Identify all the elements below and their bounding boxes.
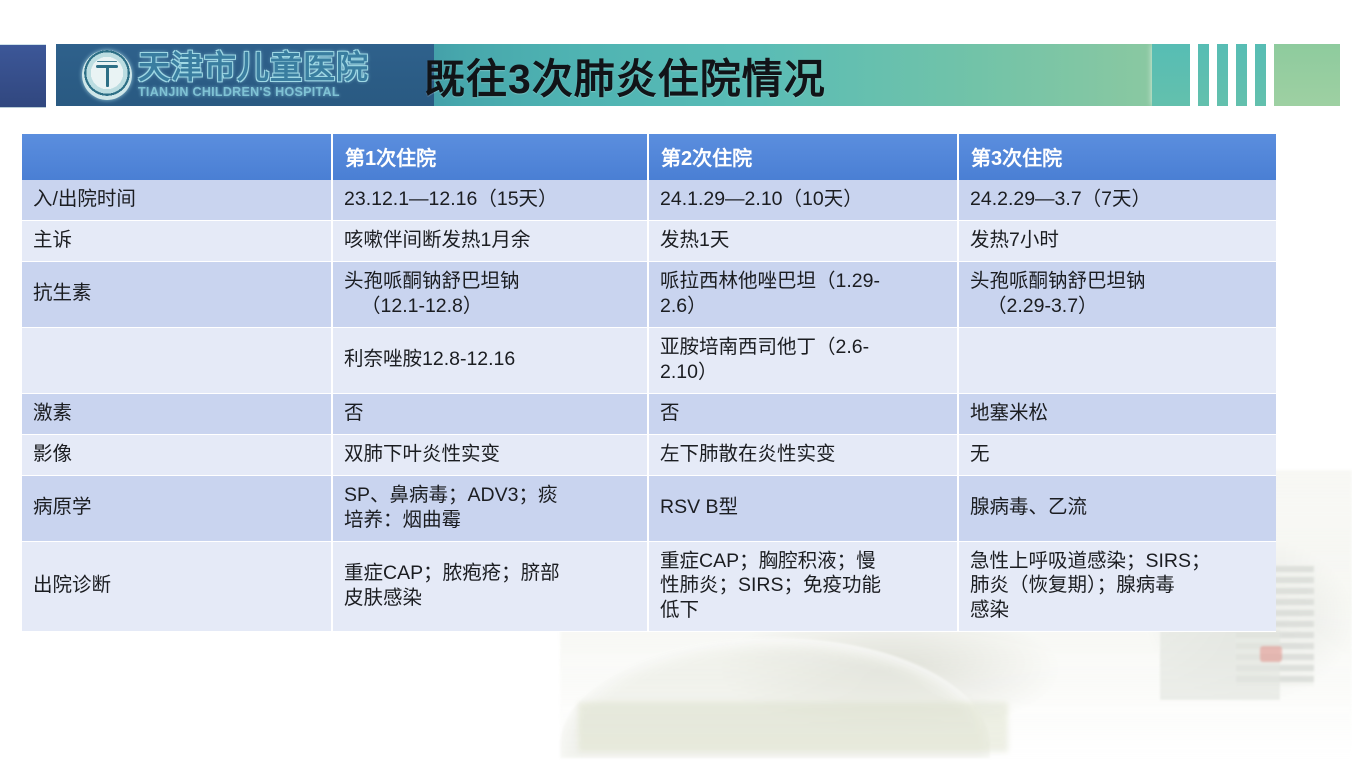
- hospital-logo: 天津市儿童医院 TIANJIN CHILDREN'S HOSPITAL: [56, 44, 434, 106]
- cell-line: 左下肺散在炎性实变: [660, 442, 946, 467]
- cell-line: 地塞米松: [970, 401, 1265, 426]
- cell-line: 培养：烟曲霉: [344, 508, 636, 533]
- cell-line: 哌拉西林他唑巴坦（1.29-: [660, 269, 946, 294]
- table-cell: SP、鼻病毒；ADV3；痰培养：烟曲霉: [332, 475, 648, 541]
- decor-bar-4: [1236, 44, 1247, 106]
- table-cell: 利奈唑胺12.8-12.16: [332, 327, 648, 393]
- header-decorative-bars: [1152, 44, 1352, 106]
- cell-line: 低下: [660, 598, 946, 623]
- table-cell: 发热7小时: [958, 220, 1276, 261]
- table-cell: 亚胺培南西司他丁（2.6-2.10）: [648, 327, 958, 393]
- cell-line: SP、鼻病毒；ADV3；痰: [344, 483, 636, 508]
- cell-line: 无: [970, 442, 1265, 467]
- table-cell: 无: [958, 434, 1276, 475]
- hospital-name-en: TIANJIN CHILDREN'S HOSPITAL: [138, 86, 369, 99]
- background-building-right: [1160, 630, 1280, 700]
- row-label: 出院诊断: [22, 541, 332, 632]
- decor-bar-1: [1152, 44, 1190, 106]
- table-cell: 头孢哌酮钠舒巴坦钠（2.29-3.7）: [958, 261, 1276, 327]
- hospital-seal-icon: [82, 50, 132, 100]
- cell-line: 腺病毒、乙流: [970, 495, 1265, 520]
- column-header-metric: [22, 134, 332, 180]
- row-label: 激素: [22, 393, 332, 434]
- decor-bar-5: [1255, 44, 1266, 106]
- table-cell: 重症CAP；胸腔积液；慢性肺炎；SIRS；免疫功能低下: [648, 541, 958, 632]
- cell-line: 肺炎（恢复期）；腺病毒: [970, 573, 1265, 598]
- table-cell: 哌拉西林他唑巴坦（1.29-2.6）: [648, 261, 958, 327]
- table-row: 出院诊断重症CAP；脓疱疮；脐部皮肤感染重症CAP；胸腔积液；慢性肺炎；SIRS…: [22, 541, 1276, 632]
- cell-line: 24.2.29—3.7（7天）: [970, 187, 1265, 212]
- table-cell: 头孢哌酮钠舒巴坦钠（12.1-12.8）: [332, 261, 648, 327]
- row-label: [22, 327, 332, 393]
- cell-line: 否: [344, 401, 636, 426]
- hospital-logo-text: 天津市儿童医院 TIANJIN CHILDREN'S HOSPITAL: [138, 51, 369, 99]
- row-label: 入/出院时间: [22, 180, 332, 220]
- table-cell: 咳嗽伴间断发热1月余: [332, 220, 648, 261]
- cell-line: 发热7小时: [970, 228, 1265, 253]
- table-row: 病原学SP、鼻病毒；ADV3；痰培养：烟曲霉RSV B型腺病毒、乙流: [22, 475, 1276, 541]
- cell-line: RSV B型: [660, 495, 946, 520]
- table-cell: 地塞米松: [958, 393, 1276, 434]
- cell-line: 发热1天: [660, 228, 946, 253]
- table-row: 入/出院时间23.12.1—12.16（15天）24.1.29—2.10（10天…: [22, 180, 1276, 220]
- table-header-row: 第1次住院 第2次住院 第3次住院: [22, 134, 1276, 180]
- table-cell: 发热1天: [648, 220, 958, 261]
- column-header-admission-1: 第1次住院: [332, 134, 648, 180]
- table-header: 第1次住院 第2次住院 第3次住院: [22, 134, 1276, 180]
- cell-line: 否: [660, 401, 946, 426]
- hospitalization-table-wrapper: 第1次住院 第2次住院 第3次住院 入/出院时间23.12.1—12.16（15…: [22, 134, 1276, 632]
- cell-line: （2.29-3.7）: [970, 294, 1265, 319]
- hospital-name-cn: 天津市儿童医院: [138, 51, 369, 83]
- table-cell: 急性上呼吸道感染；SIRS；肺炎（恢复期）；腺病毒感染: [958, 541, 1276, 632]
- background-accent: [1260, 646, 1282, 662]
- cell-line: 头孢哌酮钠舒巴坦钠: [344, 269, 636, 294]
- decor-bar-6: [1274, 44, 1340, 106]
- cell-line: 双肺下叶炎性实变: [344, 442, 636, 467]
- cell-line: 23.12.1—12.16（15天）: [344, 187, 636, 212]
- cell-line: 2.6）: [660, 294, 946, 319]
- hospitalization-table: 第1次住院 第2次住院 第3次住院 入/出院时间23.12.1—12.16（15…: [22, 134, 1276, 632]
- page-title: 既往3次肺炎住院情况: [424, 44, 826, 106]
- table-cell: 23.12.1—12.16（15天）: [332, 180, 648, 220]
- table-cell: 左下肺散在炎性实变: [648, 434, 958, 475]
- table-body: 入/出院时间23.12.1—12.16（15天）24.1.29—2.10（10天…: [22, 180, 1276, 632]
- decor-bar-2: [1198, 44, 1209, 106]
- cell-line: 利奈唑胺12.8-12.16: [344, 347, 636, 372]
- table-cell: 双肺下叶炎性实变: [332, 434, 648, 475]
- table-row: 抗生素头孢哌酮钠舒巴坦钠（12.1-12.8）哌拉西林他唑巴坦（1.29-2.6…: [22, 261, 1276, 327]
- table-row: 影像双肺下叶炎性实变左下肺散在炎性实变无: [22, 434, 1276, 475]
- decor-bar-3: [1217, 44, 1228, 106]
- cell-line: 2.10）: [660, 360, 946, 385]
- cell-line: 感染: [970, 598, 1265, 623]
- table-cell: [958, 327, 1276, 393]
- column-header-admission-2: 第2次住院: [648, 134, 958, 180]
- presentation-slide: 天津市儿童医院 TIANJIN CHILDREN'S HOSPITAL 既往3次…: [0, 0, 1352, 760]
- header-band: 天津市儿童医院 TIANJIN CHILDREN'S HOSPITAL 既往3次…: [56, 44, 1180, 106]
- table-cell: 24.2.29—3.7（7天）: [958, 180, 1276, 220]
- cell-line: 性肺炎；SIRS；免疫功能: [660, 573, 946, 598]
- table-row: 激素否否地塞米松: [22, 393, 1276, 434]
- cell-line: 亚胺培南西司他丁（2.6-: [660, 335, 946, 360]
- row-label: 抗生素: [22, 261, 332, 327]
- cell-line: 咳嗽伴间断发热1月余: [344, 228, 636, 253]
- table-cell: 重症CAP；脓疱疮；脐部皮肤感染: [332, 541, 648, 632]
- row-label: 影像: [22, 434, 332, 475]
- table-cell: RSV B型: [648, 475, 958, 541]
- row-label: 病原学: [22, 475, 332, 541]
- header-navy-block: [0, 44, 46, 108]
- row-label: 主诉: [22, 220, 332, 261]
- table-row: 主诉咳嗽伴间断发热1月余发热1天发热7小时: [22, 220, 1276, 261]
- column-header-admission-3: 第3次住院: [958, 134, 1276, 180]
- background-foliage: [578, 702, 1008, 752]
- slide-header: 天津市儿童医院 TIANJIN CHILDREN'S HOSPITAL 既往3次…: [0, 44, 1352, 106]
- table-cell: 24.1.29—2.10（10天）: [648, 180, 958, 220]
- table-row: 利奈唑胺12.8-12.16亚胺培南西司他丁（2.6-2.10）: [22, 327, 1276, 393]
- cell-line: 24.1.29—2.10（10天）: [660, 187, 946, 212]
- cell-line: （12.1-12.8）: [344, 294, 636, 319]
- table-cell: 否: [332, 393, 648, 434]
- cell-line: 急性上呼吸道感染；SIRS；: [970, 549, 1265, 574]
- table-cell: 腺病毒、乙流: [958, 475, 1276, 541]
- cell-line: 头孢哌酮钠舒巴坦钠: [970, 269, 1265, 294]
- cell-line: 重症CAP；胸腔积液；慢: [660, 549, 946, 574]
- cell-line: 重症CAP；脓疱疮；脐部: [344, 561, 636, 586]
- cell-line: 皮肤感染: [344, 586, 636, 611]
- table-cell: 否: [648, 393, 958, 434]
